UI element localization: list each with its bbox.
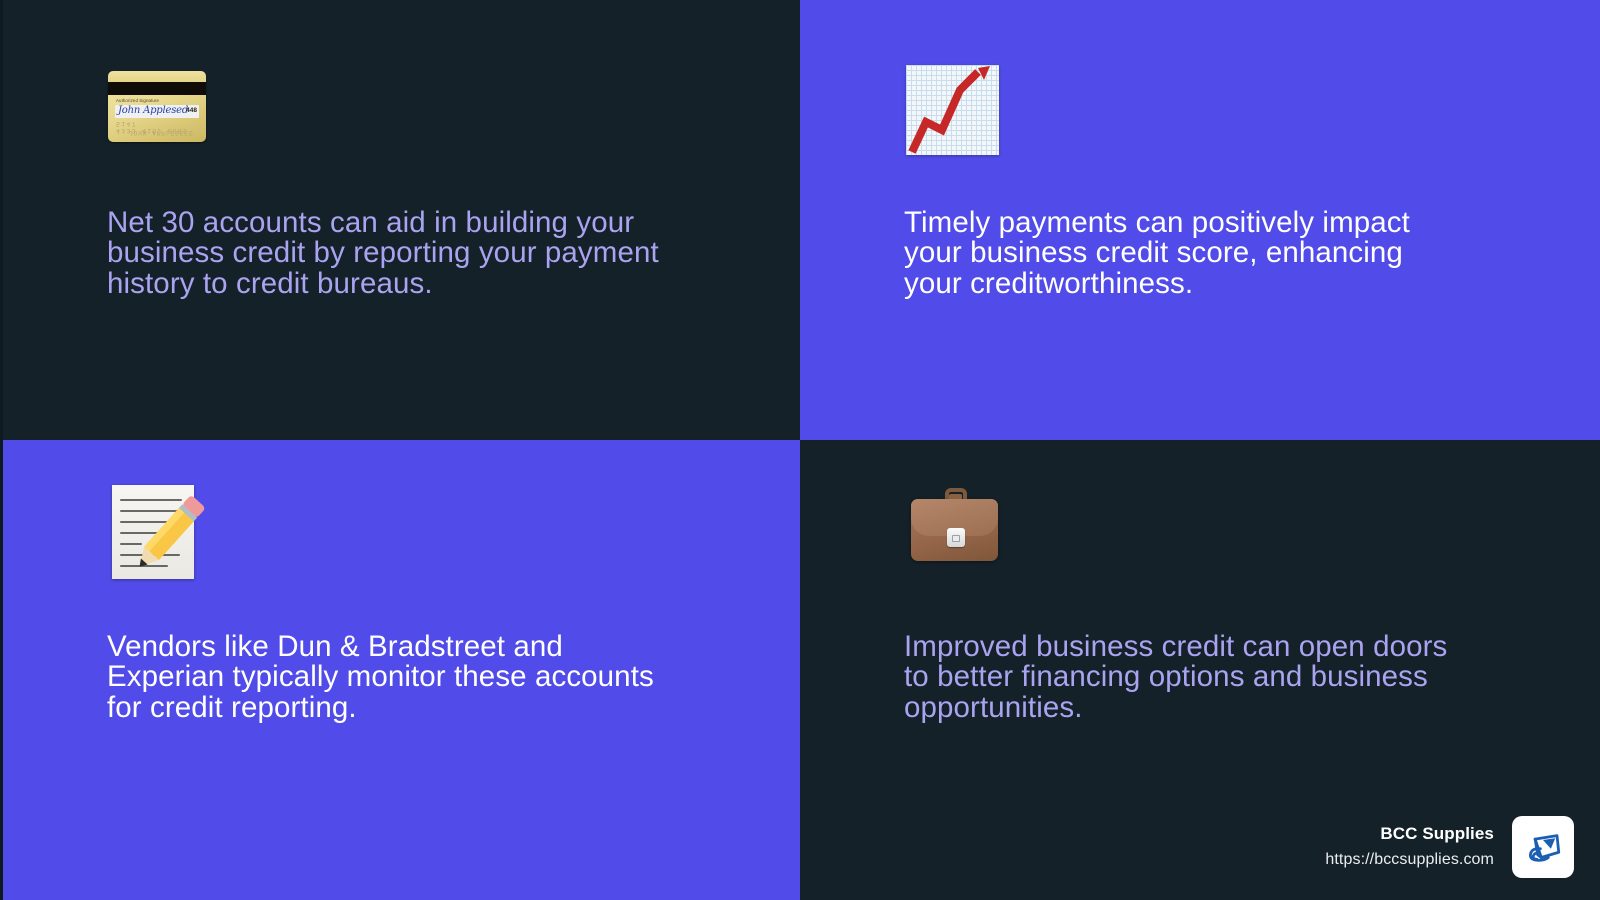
card-content: Authorized Signature John Applesed 448 4… xyxy=(107,60,760,299)
card-text: Vendors like Dun & Bradstreet and Experi… xyxy=(107,632,682,723)
card-text: Timely payments can positively impact yo… xyxy=(904,208,1449,299)
brand-name: BCC Supplies xyxy=(1325,823,1494,846)
credit-card-cvv: 448 xyxy=(186,107,197,114)
brand-footer: BCC Supplies https://bccsupplies.com xyxy=(1325,816,1574,878)
paperclip-document-logo-icon xyxy=(1522,826,1564,868)
card-content: Vendors like Dun & Bradstreet and Experi… xyxy=(107,482,760,723)
chart-line-icon xyxy=(904,60,1004,160)
card-text: Net 30 accounts can aid in building your… xyxy=(107,208,682,299)
credit-card-holder: JOHN APPLESEED xyxy=(129,129,194,136)
card-content: Timely payments can positively impact yo… xyxy=(904,60,1560,299)
briefcase-emoji xyxy=(904,482,1004,582)
memo-emoji xyxy=(107,482,207,582)
brand-logo[interactable] xyxy=(1512,816,1574,878)
infographic-canvas: Authorized Signature John Applesed 448 4… xyxy=(0,0,1600,900)
chart-increasing-emoji xyxy=(904,60,1004,160)
card-content: Improved business credit can open doors … xyxy=(904,482,1560,723)
card-text: Improved business credit can open doors … xyxy=(904,632,1449,723)
credit-card-signature-label: Authorized Signature xyxy=(116,98,159,103)
card-timely-payments: Timely payments can positively impact yo… xyxy=(800,0,1600,440)
card-net-30-accounts: Authorized Signature John Applesed 448 4… xyxy=(3,0,800,440)
brand-text-block: BCC Supplies https://bccsupplies.com xyxy=(1325,823,1494,871)
credit-card-signature: John Applesed xyxy=(118,105,188,116)
card-vendor-monitoring: Vendors like Dun & Bradstreet and Experi… xyxy=(3,440,800,900)
brand-url[interactable]: https://bccsupplies.com xyxy=(1325,849,1494,871)
quadrant-grid: Authorized Signature John Applesed 448 4… xyxy=(3,0,1600,900)
pencil-icon xyxy=(107,482,207,582)
credit-card-emoji: Authorized Signature John Applesed 448 4… xyxy=(107,60,207,160)
